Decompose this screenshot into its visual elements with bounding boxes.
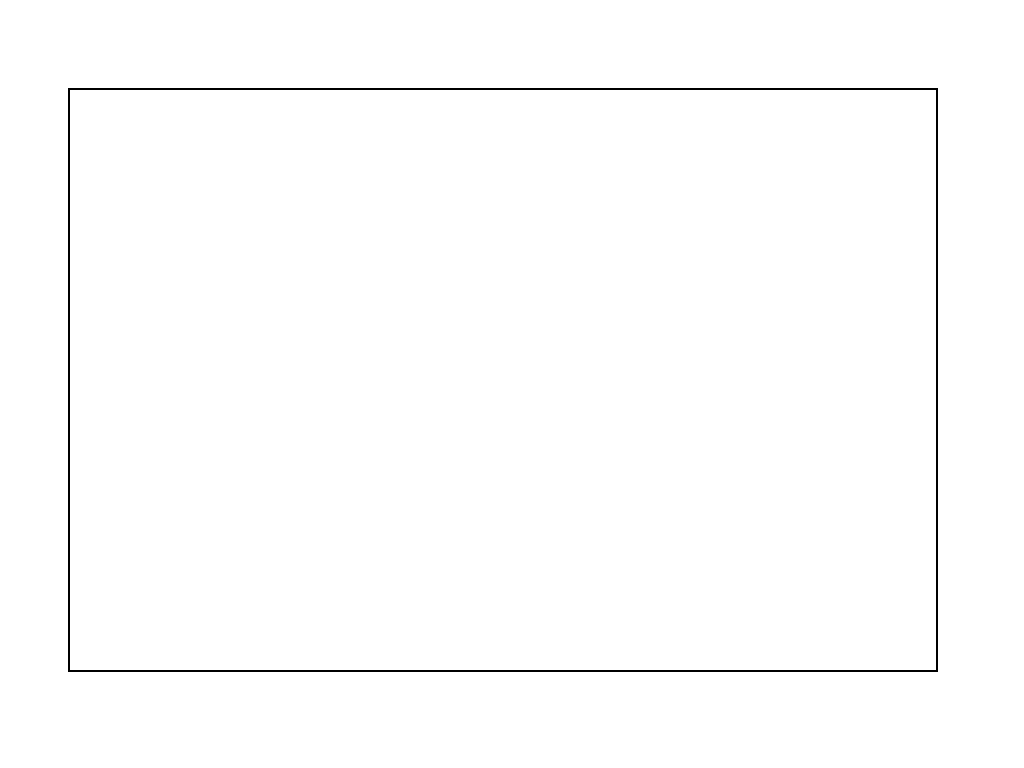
colorbar xyxy=(945,300,971,480)
plot-area xyxy=(68,88,938,672)
x-axis-title xyxy=(0,729,1024,758)
chart-root xyxy=(0,0,1024,768)
x-axis xyxy=(0,672,1024,732)
chart-title xyxy=(0,52,1024,76)
gridlines xyxy=(70,90,936,670)
y-axis xyxy=(0,88,68,672)
